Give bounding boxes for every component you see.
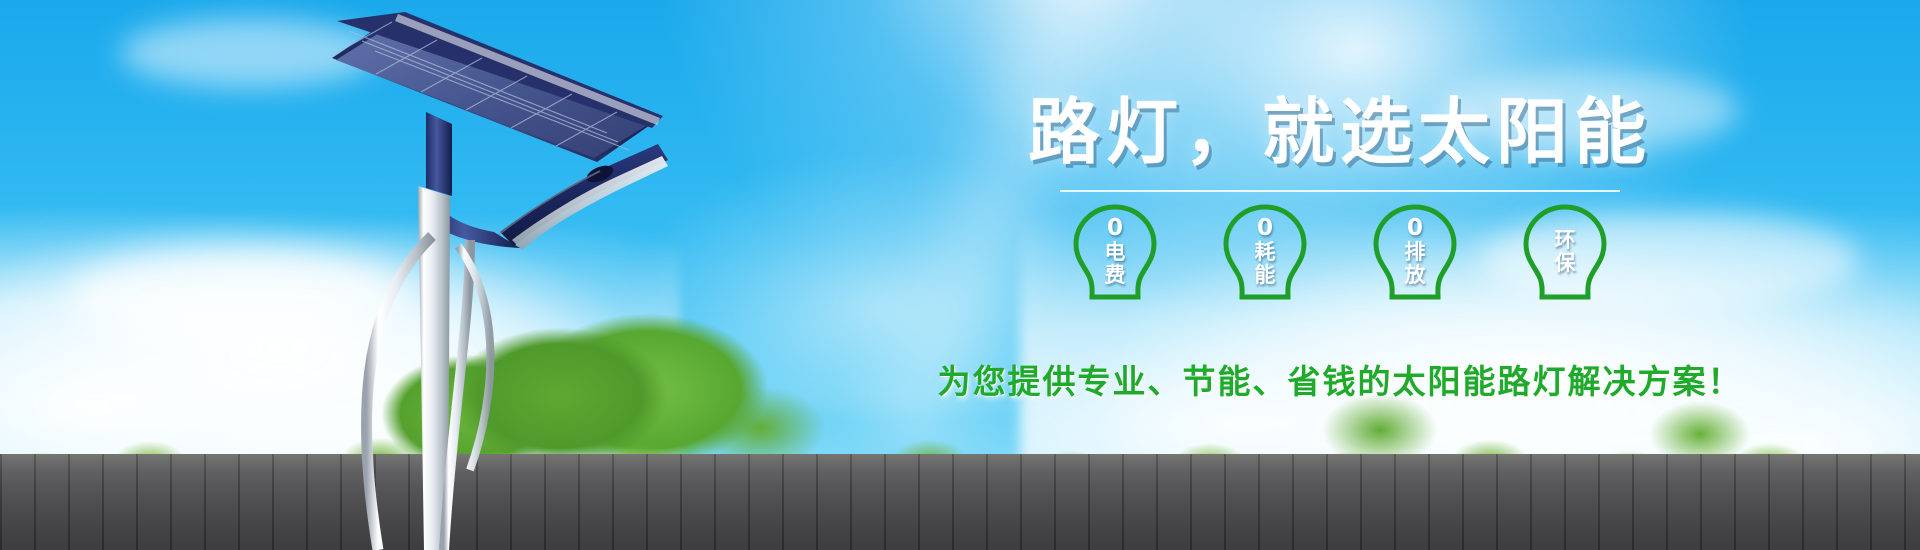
feature-badge[interactable]: 0 电 费 [1060, 200, 1170, 304]
copy-block: 路灯，就选太阳能 0 电 费 0 耗 能 [760, 0, 1920, 550]
badge-label-bottom: 能 [1255, 265, 1276, 287]
badge-label-top: 电 [1105, 242, 1126, 264]
badge-text: 0 耗 能 [1210, 200, 1320, 304]
badge-label-top: 环 [1555, 230, 1576, 252]
badge-value: 0 [1407, 217, 1423, 241]
badge-label-bottom: 费 [1105, 265, 1126, 287]
title-divider [1060, 190, 1620, 192]
badge-value: 0 [1257, 217, 1273, 241]
led-street-lamp-head [497, 144, 668, 250]
badge-label-bottom: 放 [1405, 265, 1426, 287]
feature-badge[interactable]: 环 保 [1510, 200, 1620, 304]
feature-badge[interactable]: 0 耗 能 [1210, 200, 1320, 304]
badge-value: 0 [1107, 217, 1123, 241]
solar-panel [331, 12, 663, 162]
badge-text: 0 排 放 [1360, 200, 1470, 304]
badge-label-top: 耗 [1255, 242, 1276, 264]
tagline: 为您提供专业、节能、省钱的太阳能路灯解决方案！ [760, 355, 1920, 403]
badge-label-bottom: 保 [1555, 253, 1576, 275]
feature-badge-list: 0 电 费 0 耗 能 0 [1060, 200, 1620, 304]
badge-label-top: 排 [1405, 242, 1426, 264]
badge-text: 环 保 [1510, 200, 1620, 304]
panel-mast [426, 112, 452, 196]
feature-badge[interactable]: 0 排 放 [1360, 200, 1470, 304]
badge-text: 0 电 费 [1060, 200, 1170, 304]
solar-street-light-banner: 路灯，就选太阳能 0 电 费 0 耗 能 [0, 0, 1920, 550]
solar-street-light [0, 0, 760, 550]
page-title: 路灯，就选太阳能 [760, 96, 1920, 168]
